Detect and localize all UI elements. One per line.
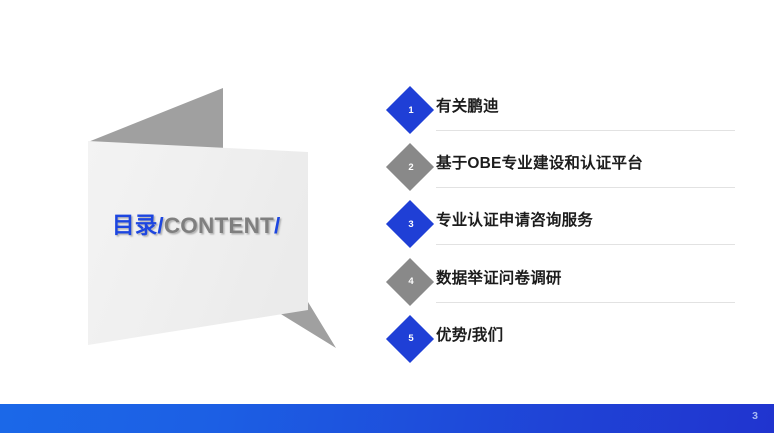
list-item[interactable]: 2 基于OBE专业建设和认证平台 [393,145,743,202]
slide-canvas: 目录/CONTENT/ 1 有关鹏迪 2 基于OBE专业建设和认证平台 3 专业… [0,0,774,433]
list-item-number: 4 [393,265,428,299]
list-item-label: 有关鹏迪 [436,94,499,116]
list-item[interactable]: 4 数据举证问卷调研 [393,260,743,317]
agenda-list: 1 有关鹏迪 2 基于OBE专业建设和认证平台 3 专业认证申请咨询服务 4 数… [393,88,743,374]
list-item-label: 专业认证申请咨询服务 [436,208,593,230]
list-item-number: 1 [393,93,428,127]
list-item-divider [436,187,735,188]
content-ribbon-graphic: 目录/CONTENT/ [80,80,350,360]
list-item[interactable]: 1 有关鹏迪 [393,88,743,145]
page-number: 3 [752,410,758,422]
list-item-divider [436,244,735,245]
ribbon-title-en: CONTENT [164,213,274,238]
ribbon-panel [88,141,308,345]
list-item-number: 2 [393,150,428,184]
ribbon-title: 目录/CONTENT/ [112,208,280,240]
list-item[interactable]: 3 专业认证申请咨询服务 [393,202,743,259]
list-item-label: 优势/我们 [436,323,503,345]
list-item[interactable]: 5 优势/我们 [393,317,743,374]
footer-bar: 3 [0,404,774,433]
list-item-label: 基于OBE专业建设和认证平台 [436,151,643,173]
list-item-divider [436,302,735,303]
list-item-number: 5 [393,322,428,356]
ribbon-title-cn: 目录 [112,213,157,238]
list-item-divider [436,130,735,131]
list-item-label: 数据举证问卷调研 [436,266,562,288]
ribbon-title-sep2: / [274,213,280,238]
list-item-number: 3 [393,207,428,241]
